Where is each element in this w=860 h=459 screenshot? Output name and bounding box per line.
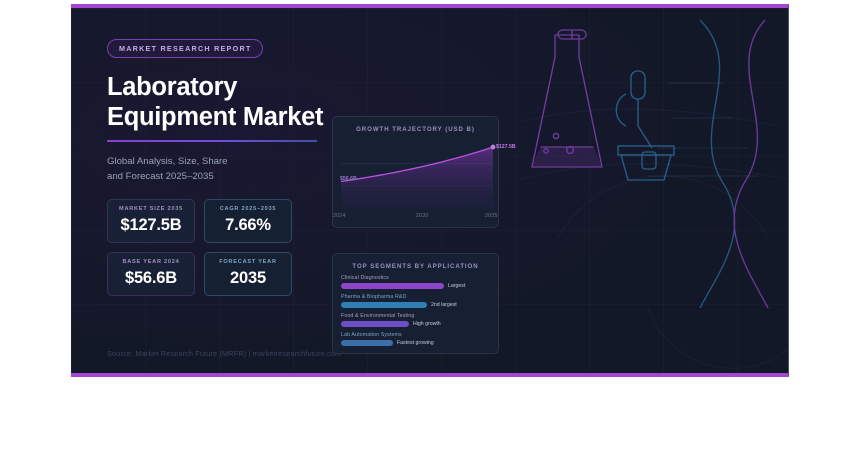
x-tick-label: 2035	[485, 213, 498, 219]
segment-bar	[341, 321, 409, 327]
stat-value: 7.66%	[225, 216, 271, 235]
segment-list: Clinical DiagnosticsLargestPharma & Biop…	[341, 275, 490, 346]
flask-icon	[532, 30, 602, 167]
stat-card-grid: MARKET SIZE 2035 $127.5B CAGR 2025–2035 …	[107, 199, 369, 296]
chart-endpoint-marker	[491, 145, 496, 150]
stat-value: $127.5B	[121, 216, 182, 235]
growth-trajectory-chart: GROWTH TRAJECTORY (USD B) 202420302035 $…	[332, 116, 499, 228]
title-line-1: Laboratory	[107, 73, 237, 101]
segment-bar	[341, 283, 444, 289]
segment-bar	[341, 340, 393, 346]
lab-equipment-illustration	[518, 8, 788, 373]
source-attribution: Source: Market Research Future (MRFR) | …	[107, 349, 341, 358]
segment-name: Clinical Diagnostics	[341, 275, 490, 281]
stat-card-market-size: MARKET SIZE 2035 $127.5B	[107, 199, 195, 243]
top-segments-panel: TOP SEGMENTS BY APPLICATION Clinical Dia…	[332, 253, 499, 354]
segment-row: Lab Automation SystemsFastest growing	[341, 332, 490, 346]
x-tick-label: 2024	[333, 213, 346, 219]
chart-value-label: $127.5B	[496, 144, 516, 150]
page-title: Laboratory Equipment Market	[107, 72, 369, 133]
stat-label: BASE YEAR 2024	[122, 259, 179, 265]
segment-tag: High growth	[413, 321, 441, 327]
infographic-card: MARKET RESEARCH REPORT Laboratory Equipm…	[71, 4, 789, 377]
segment-row: Clinical DiagnosticsLargest	[341, 275, 490, 289]
stat-label: FORECAST YEAR	[219, 259, 277, 265]
segment-row: Pharma & Biopharma R&D2nd largest	[341, 294, 490, 308]
subtitle-line-2: and Forecast 2025–2035	[107, 171, 214, 182]
title-line-2: Equipment Market	[107, 103, 323, 131]
stat-card-cagr: CAGR 2025–2035 7.66%	[204, 199, 292, 243]
stat-card-forecast-year: FORECAST YEAR 2035	[204, 252, 292, 296]
report-badge: MARKET RESEARCH REPORT	[107, 39, 263, 58]
dna-helix-icon	[700, 20, 768, 308]
page-subtitle: Global Analysis, Size, Share and Forecas…	[107, 155, 369, 184]
microscope-icon	[616, 71, 674, 180]
segment-tag: Fastest growing	[397, 340, 434, 346]
subtitle-line-1: Global Analysis, Size, Share	[107, 156, 228, 167]
segment-name: Pharma & Biopharma R&D	[341, 294, 490, 300]
hero-content: MARKET RESEARCH REPORT Laboratory Equipm…	[107, 38, 369, 296]
segments-title: TOP SEGMENTS BY APPLICATION	[333, 263, 498, 270]
segment-name: Food & Environmental Testing	[341, 313, 490, 319]
segment-bar	[341, 302, 427, 308]
stat-value: $56.6B	[125, 269, 177, 288]
stat-card-base-year: BASE YEAR 2024 $56.6B	[107, 252, 195, 296]
chart-value-label: $56.6B	[340, 176, 357, 182]
x-tick-label: 2030	[416, 213, 429, 219]
segment-name: Lab Automation Systems	[341, 332, 490, 338]
screenshot-root: MARKET RESEARCH REPORT Laboratory Equipm…	[0, 0, 860, 459]
segment-row: Food & Environmental TestingHigh growth	[341, 313, 490, 327]
segment-tag: Largest	[448, 283, 465, 289]
stat-value: 2035	[230, 269, 266, 288]
segment-tag: 2nd largest	[431, 302, 457, 308]
stat-label: CAGR 2025–2035	[220, 206, 277, 212]
stat-label: MARKET SIZE 2035	[119, 206, 183, 212]
title-underline	[107, 140, 317, 143]
